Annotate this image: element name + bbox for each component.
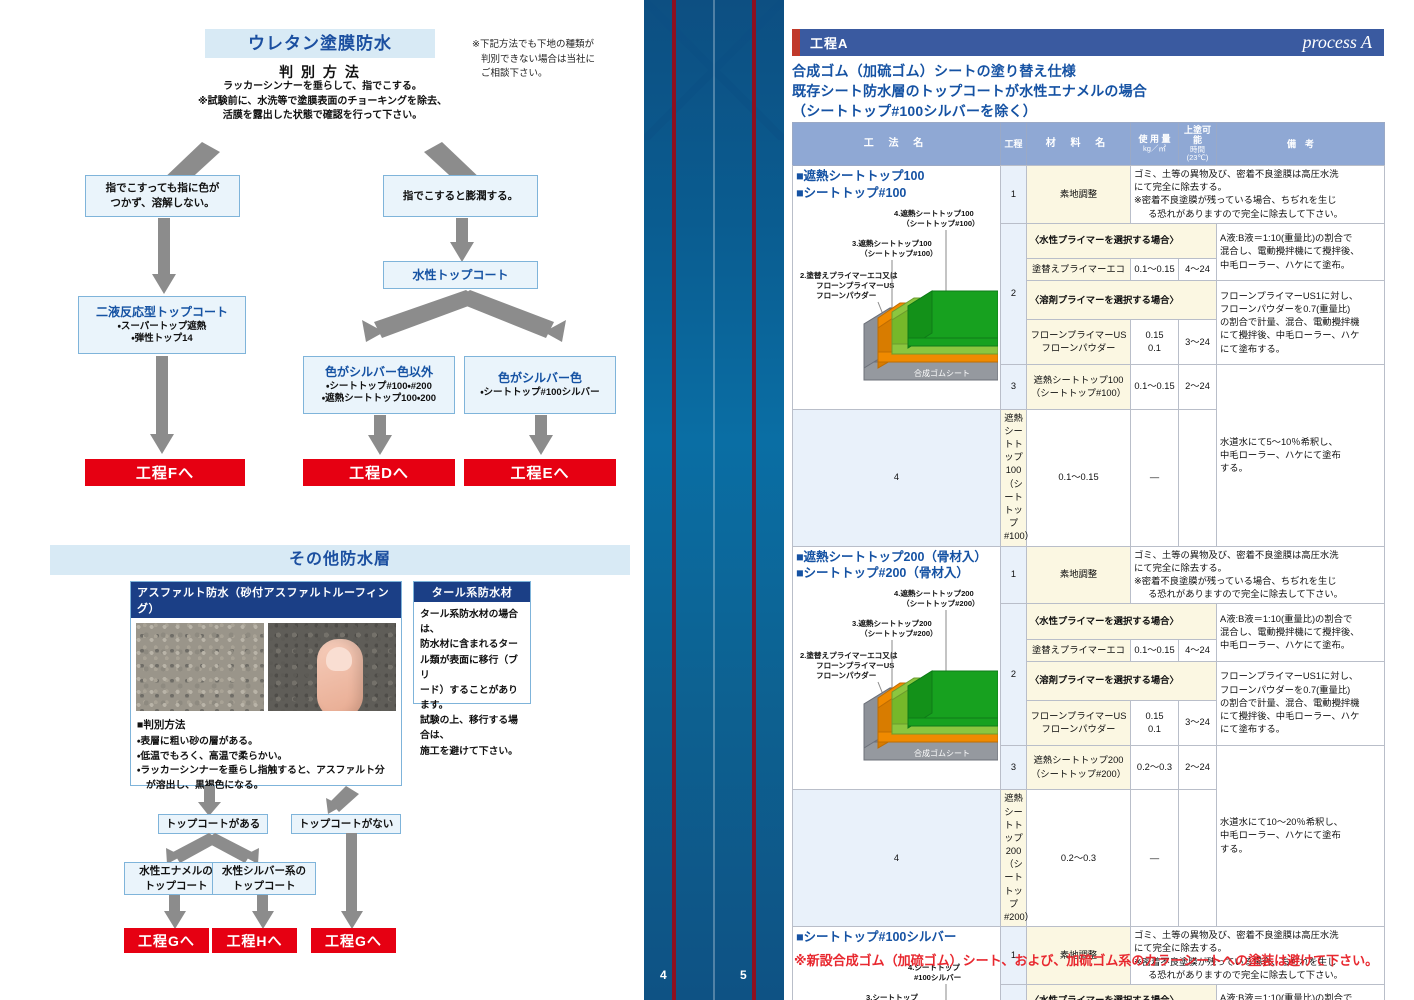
right-page: 工程A process A 合成ゴム（加硫ゴム）シートの塗り替え仕様 既存シート…	[784, 0, 1414, 1000]
diagram-title-2-line1: ■シートトップ#100シルバー	[796, 929, 997, 946]
step-0-3-material: 遮熱シートトップ100 （シートトップ#100）	[1027, 365, 1131, 409]
goto-process-h[interactable]: 工程Hへ	[212, 928, 297, 953]
step-0-4-time: —	[1131, 409, 1179, 546]
arrow-to-process-g2	[340, 833, 366, 931]
water-topcoat-box: 水性トップコート	[383, 261, 538, 289]
method-body-line3: 活膜を露出した状態で確認を行って下さい。	[150, 109, 495, 124]
step-1-1-material: 素地調整	[1027, 546, 1131, 604]
step-0-1-num: 1	[1001, 165, 1027, 223]
sp-remark-1-l3: の割合で計量、混合、電動攪拌機	[1220, 698, 1359, 708]
diagram-1-label2-l2: フローンプライマーUS	[816, 660, 894, 670]
method-body: ラッカーシンナーを垂らして、指でこする。 ※試験前に、水洗等で塗膜表面のチョーキ…	[150, 80, 495, 124]
step-1-4-time: —	[1131, 790, 1179, 927]
topcoat-remark-0: 水道水にて5～10％希釈し、 中毛ローラー、ハケにて塗布 する。	[1217, 365, 1385, 546]
solvent-primer-material-1: フローンプライマーUS フローンパウダー	[1027, 700, 1131, 745]
has-topcoat-box: トップコートがある	[158, 814, 268, 834]
sp-remark-0-l1: フローンプライマーUS1に対し、	[1220, 291, 1358, 301]
step-0-3-usage: 0.1～0.15	[1131, 365, 1179, 409]
branch-left-box: 指でこすっても指に色が つかず、溶解しない。	[85, 175, 240, 217]
silver-topcoat-line1: 水性シルバー系の	[222, 864, 306, 879]
water-primer-material-1: 塗替えプライマーエコ	[1027, 639, 1131, 661]
sp-remark-0-l2: フローンパウダーを0.7(重量比)	[1220, 304, 1350, 314]
step-1-3-time: 2～24	[1179, 745, 1217, 789]
wp-remark-2-l1: A液:B液＝1:10(重量比)の割合で	[1220, 993, 1352, 1000]
water-primer-remark-1: A液:B液＝1:10(重量比)の割合で 混合し、電動攪拌機にて攪拌後、 中毛ロー…	[1217, 604, 1385, 662]
s1-3-mat-l1: 遮熱シートトップ200	[1034, 755, 1124, 765]
diagram-2-label4-l2: #100シルバー	[914, 973, 961, 982]
sp-remark-1-l4: にて攪拌後、中毛ローラー、ハケ	[1220, 711, 1359, 721]
asphalt-photo-2	[268, 623, 396, 711]
solvent-primer-time-0: 3～24	[1179, 320, 1217, 365]
tc-remark-1-l1: 水道水にて10～20％希釈し、	[1220, 817, 1343, 827]
step-1-1-remark-l2: にて完全に除去する。	[1134, 563, 1227, 573]
diagram-title-0-line2: ■シートトップ#100	[796, 185, 997, 202]
water-topcoat-label: 水性トップコート	[412, 267, 508, 284]
diagram-title-1-line2: ■シートトップ#200（骨材入）	[796, 565, 997, 582]
water-primer-head-2: 〈水性プライマーを選択する場合〉	[1027, 984, 1217, 1000]
tc-remark-1-l2: 中毛ローラー、ハケにて塗布	[1220, 830, 1341, 840]
top-note: ※下記方法でも下地の種類が 判別できない場合は当社に ご相談下さい。	[472, 38, 632, 82]
non-silver-item-1: ・遮熱シートトップ100・200	[304, 393, 454, 406]
s1-4-mat-l1: 遮熱シートトップ200	[1004, 793, 1023, 856]
document-page: ウレタン塗膜防水 ※下記方法でも下地の種類が 判別できない場合は当社に ご相談下…	[0, 0, 1414, 1000]
sp-remark-0-l4: にて攪拌後、中毛ローラー、ハケ	[1220, 330, 1359, 340]
goto-process-d[interactable]: 工程Dへ	[303, 459, 455, 486]
book-spine: 4 5	[644, 0, 784, 1000]
step-0-4-material: 遮熱シートトップ100 （シートトップ#100）	[1001, 409, 1027, 546]
non-silver-box: 色がシルバー色以外 ・シートトップ#100・#200 ・遮熱シートトップ100・…	[303, 356, 455, 414]
branch-left-line1: 指でこすっても指に色が	[106, 181, 220, 196]
tar-body-0: タール系防水材の場合は、	[420, 607, 525, 637]
diagram-2-label3-l1: 3.シートトップ	[866, 992, 918, 1000]
enamel-topcoat-line2: トップコート	[145, 879, 208, 894]
diagram-title-1-line1: ■遮熱シートトップ200（骨材入）	[796, 549, 997, 566]
spine-red-line-right	[752, 0, 756, 1000]
step-1-3-num: 3	[1001, 745, 1027, 789]
step-0-1-remark-l3: ※密着不良塗膜が残っている場合、ちぢれを生じ	[1134, 195, 1337, 205]
solvent-primer-remark-0: フローンプライマーUS1に対し、 フローンパウダーを0.7(重量比) の割合で計…	[1217, 281, 1385, 365]
diagram-svg-1: 2.塗替えプライマーエコ又は フローンプライマーUS フローンパウダー 3.遮熱…	[796, 582, 998, 787]
silver-item-0: ・シートトップ#100シルバー	[465, 387, 615, 400]
asphalt-item-0: ・表層に粗い砂の層がある。	[137, 735, 395, 750]
solvent-primer-usage-0: 0.15 0.1	[1131, 320, 1179, 365]
arrow-to-process-e	[527, 415, 557, 457]
step-1-1-remark-l3: ※密着不良塗膜が残っている場合、ちぢれを生じ	[1134, 576, 1337, 586]
diagram-0-label4-l2: （シートトップ#100）	[902, 218, 980, 228]
step-0-1-remark-l4: る恐れがありますので完全に除去して下さい。	[1134, 208, 1343, 221]
step-2-1-remark-l4: る恐れがありますので完全に除去して下さい。	[1134, 969, 1343, 982]
diagram-0-label2-l3: フローンパウダー	[816, 290, 876, 300]
page-number-left: 4	[660, 968, 667, 982]
no-topcoat-label: トップコートがない	[299, 817, 394, 832]
arrow-topcoat-fork	[135, 833, 315, 865]
table-header-row: 工 法 名 工程 材 料 名 使 用 量 kg／㎡ 上塗可能 時間 (23℃) …	[793, 123, 1385, 166]
no-topcoat-box: トップコートがない	[291, 814, 401, 834]
sp-remark-0-l5: にて塗布する。	[1220, 344, 1285, 354]
footnote-warning: ※新設合成ゴム（加硫ゴム）シート、および、加硫ゴム系のカラーシートへの塗装は避け…	[794, 950, 1394, 969]
water-primer-usage-1: 0.1～0.15	[1131, 639, 1179, 661]
tar-body-3: ード）することがあります。	[420, 683, 525, 713]
diagram-cell-0: ■遮熱シートトップ100 ■シートトップ#100 2.塗替えプライマーエコ又は …	[793, 165, 1001, 409]
two-part-item-1: ・弾性トップ14	[79, 333, 245, 346]
diagram-cell-1: ■遮熱シートトップ200（骨材入） ■シートトップ#200（骨材入） 2.塗替え…	[793, 546, 1001, 790]
tc-remark-0-l1: 水道水にて5～10％希釈し、	[1220, 437, 1338, 447]
sp-use-1-l1: 0.15	[1145, 711, 1163, 721]
wp-remark-1-l1: A液:B液＝1:10(重量比)の割合で	[1220, 614, 1352, 624]
step-1-1-remark-l1: ゴミ、土等の異物及び、密着不良塗膜は高圧水洗	[1134, 550, 1339, 560]
branch-left-line2: つかず、溶解しない。	[110, 196, 214, 211]
method-title: 判 別 方 法	[205, 62, 435, 82]
sp-mat-0-l2: フローンパウダー	[1042, 343, 1116, 353]
layer-diagram-0: ■遮熱シートトップ100 ■シートトップ#100 2.塗替えプライマーエコ又は …	[796, 168, 997, 407]
col-usage-sub: kg／㎡	[1132, 145, 1177, 154]
asphalt-panel: アスファルト防水（砂付アスファルトルーフィング） ■判別方法 ・表層に粗い砂の層…	[130, 581, 402, 786]
col-recoat: 上塗可能 時間 (23℃)	[1179, 123, 1217, 166]
water-primer-head-0: 〈水性プライマーを選択する場合〉	[1027, 223, 1217, 258]
wp-remark-1-l2: 混合し、電動攪拌機にて攪拌後、	[1220, 627, 1359, 637]
silver-title: 色がシルバー色	[498, 370, 582, 387]
spec-title-line3: （シートトップ#100シルバーを除く）	[792, 102, 1392, 122]
goto-process-g-2[interactable]: 工程Gへ	[311, 928, 396, 953]
water-primer-time-0: 4～24	[1179, 259, 1217, 281]
s0-3-mat-l1: 遮熱シートトップ100	[1034, 375, 1124, 385]
sp-remark-1-l1: フローンプライマーUS1に対し、	[1220, 671, 1358, 681]
asphalt-panel-title: アスファルト防水（砂付アスファルトルーフィング）	[131, 582, 401, 618]
spine-center-seam	[713, 0, 715, 1000]
arrow-to-process-g1	[163, 895, 189, 931]
col-method: 工 法 名	[793, 123, 1001, 166]
finger-illustration	[317, 639, 363, 711]
step-1-2-num: 2	[1001, 604, 1027, 746]
sp-remark-1-l5: にて塗布する。	[1220, 724, 1285, 734]
step-0-2-num: 2	[1001, 223, 1027, 365]
step-1-4-material: 遮熱シートトップ200 （シートトップ#200）	[1001, 790, 1027, 927]
solvent-primer-remark-1: フローンプライマーUS1に対し、 フローンパウダーを0.7(重量比) の割合で計…	[1217, 661, 1385, 745]
step-1-4-num: 4	[793, 790, 1001, 927]
step-0-4-num: 4	[793, 409, 1001, 546]
diagram-0-label3-l2: （シートトップ#100）	[860, 248, 938, 258]
diagram-0-label3-l1: 3.遮熱シートトップ100	[852, 238, 932, 248]
sp-remark-0-l3: の割合で計量、混合、電動攪拌機	[1220, 317, 1359, 327]
col-usage: 使 用 量 kg／㎡	[1131, 123, 1179, 166]
step-1-1-remark-l4: る恐れがありますので完全に除去して下さい。	[1134, 588, 1343, 601]
step-1-3-material: 遮熱シートトップ200 （シートトップ#200）	[1027, 745, 1131, 789]
sp-mat-1-l1: フローンプライマーUS	[1031, 711, 1127, 721]
two-part-topcoat-box: 二液反応型トップコート ・スーパートップ遮熱 ・弾性トップ14	[78, 296, 246, 354]
tar-panel-title: タール系防水材	[414, 582, 530, 602]
diagram-1-label2-l1: 2.塗替えプライマーエコ又は	[800, 650, 898, 660]
silver-topcoat-box: 水性シルバー系の トップコート	[212, 862, 316, 895]
tar-body-2: ル類が表面に移行（ブリ	[420, 653, 525, 683]
top-note-line3: ご相談下さい。	[472, 67, 632, 82]
step-2-1-remark-l1: ゴミ、土等の異物及び、密着不良塗膜は高圧水洗	[1134, 930, 1339, 940]
enamel-topcoat-line1: 水性エナメルの	[139, 864, 213, 879]
silver-topcoat-line2: トップコート	[233, 879, 296, 894]
silver-box: 色がシルバー色 ・シートトップ#100シルバー	[464, 356, 616, 414]
solvent-primer-material-0: フローンプライマーUS フローンパウダー	[1027, 320, 1131, 365]
method-body-line2: ※試験前に、水洗等で塗膜表面のチョーキングを除去、	[150, 95, 495, 110]
tc-remark-1-l3: する。	[1220, 844, 1248, 854]
solvent-primer-usage-1: 0.15 0.1	[1131, 700, 1179, 745]
other-waterproof-banner: その他防水層	[50, 545, 630, 575]
col-recoat-main: 上塗可能	[1184, 125, 1211, 145]
arrow-to-process-f	[148, 356, 178, 456]
process-label: 工程A	[800, 33, 848, 52]
step-2-2-num: 2	[1001, 984, 1027, 1000]
asphalt-photo-1	[136, 623, 264, 711]
spec-title-line1: 合成ゴム（加硫ゴム）シートの塗り替え仕様	[792, 62, 1392, 82]
top-note-line1: ※下記方法でも下地の種類が	[472, 38, 632, 53]
diagram-1-base-label: 合成ゴムシート	[914, 748, 970, 758]
tar-body-4: 試験の上、移行する場合は、	[420, 713, 525, 743]
has-topcoat-label: トップコートがある	[166, 817, 261, 832]
section-sheettop200: ■遮熱シートトップ200（骨材入） ■シートトップ#200（骨材入） 2.塗替え…	[793, 546, 1385, 927]
diagram-title-0-line1: ■遮熱シートトップ100	[796, 168, 997, 185]
tar-body-1: 防水材に含まれるター	[420, 637, 525, 652]
process-accent-bar	[792, 29, 800, 56]
sp-use-1-l2: 0.1	[1148, 724, 1161, 734]
wp-remark-0-l3: 中毛ローラー、ハケにて塗布。	[1220, 260, 1350, 270]
asphalt-method-head: ■判別方法	[137, 717, 395, 732]
step-1-4-usage: 0.2～0.3	[1027, 790, 1131, 927]
col-step: 工程	[1001, 123, 1027, 166]
branch-right-box: 指でこすると膨潤する。	[383, 175, 538, 217]
spine-red-line-left	[672, 0, 676, 1000]
diagram-0-base-label: 合成ゴムシート	[914, 368, 970, 378]
process-label-en: process A	[1303, 32, 1385, 53]
diagram-1-label4-l2: （シートトップ#200）	[902, 598, 980, 608]
wp-remark-0-l2: 混合し、電動攪拌機にて攪拌後、	[1220, 246, 1359, 256]
diagram-1-label3-l1: 3.遮熱シートトップ200	[852, 618, 932, 628]
tar-body-5: 施工を避けて下さい。	[420, 744, 525, 759]
diagram-svg-0: 2.塗替えプライマーエコ又は フローンプライマーUS フローンパウダー 3.遮熱…	[796, 202, 998, 407]
arrow-to-process-d	[366, 415, 396, 457]
urethane-banner: ウレタン塗膜防水	[205, 29, 435, 58]
col-recoat-sub: 時間 (23℃)	[1180, 146, 1215, 163]
sp-remark-1-l2: フローンパウダーを0.7(重量比)	[1220, 685, 1350, 695]
asphalt-item-2: ・ラッカーシンナーを垂らし指触すると、アスファルト分	[137, 764, 395, 779]
spec-title: 合成ゴム（加硫ゴム）シートの塗り替え仕様 既存シート防水層のトップコートが水性エ…	[792, 62, 1392, 122]
spec-table: 工 法 名 工程 材 料 名 使 用 量 kg／㎡ 上塗可能 時間 (23℃) …	[792, 122, 1385, 1000]
step-1-1-num: 1	[1001, 546, 1027, 604]
spec-title-line2: 既存シート防水層のトップコートが水性エナメルの場合	[792, 82, 1392, 102]
solvent-primer-head-0: 〈溶剤プライマーを選択する場合〉	[1027, 281, 1217, 320]
goto-process-g-1[interactable]: 工程Gへ	[124, 928, 209, 953]
two-part-title: 二液反応型トップコート	[96, 304, 228, 321]
step-0-3-num: 3	[1001, 365, 1027, 409]
solvent-primer-head-1: 〈溶剤プライマーを選択する場合〉	[1027, 661, 1217, 700]
col-usage-main: 使 用 量	[1138, 134, 1170, 144]
s0-3-mat-l2: （シートトップ#100）	[1031, 388, 1126, 398]
step-0-1-remark-l1: ゴミ、土等の異物及び、密着不良塗膜は高圧水洗	[1134, 169, 1339, 179]
water-primer-head-1: 〈水性プライマーを選択する場合〉	[1027, 604, 1217, 639]
water-primer-usage-0: 0.1～0.15	[1131, 259, 1179, 281]
page-number-right: 5	[740, 968, 747, 982]
topcoat-remark-1: 水道水にて10～20％希釈し、 中毛ローラー、ハケにて塗布 する。	[1217, 745, 1385, 926]
water-topcoat-fork-arrows	[340, 288, 590, 346]
diagram-1-label4-l1: 4.遮熱シートトップ200	[894, 588, 974, 598]
col-material: 材 料 名	[1027, 123, 1131, 166]
sp-use-0-l1: 0.15	[1145, 330, 1163, 340]
tc-remark-0-l2: 中毛ローラー、ハケにて塗布	[1220, 450, 1341, 460]
arrow-down-left	[150, 218, 180, 296]
sp-use-0-l2: 0.1	[1148, 343, 1161, 353]
sp-mat-0-l1: フローンプライマーUS	[1031, 330, 1127, 340]
arrow-to-process-h	[251, 895, 277, 931]
wp-remark-0-l1: A液:B液＝1:10(重量比)の割合で	[1220, 233, 1352, 243]
left-page: ウレタン塗膜防水 ※下記方法でも下地の種類が 判別できない場合は当社に ご相談下…	[0, 0, 644, 1000]
tc-remark-0-l3: する。	[1220, 463, 1248, 473]
layer-diagram-1: ■遮熱シートトップ200（骨材入） ■シートトップ#200（骨材入） 2.塗替え…	[796, 549, 997, 788]
step-0-4-usage: 0.1～0.15	[1027, 409, 1131, 546]
step-0-1-remark-l2: にて完全に除去する。	[1134, 182, 1227, 192]
diagram-1-label2-l3: フローンパウダー	[816, 670, 876, 680]
goto-process-e[interactable]: 工程Eへ	[464, 459, 616, 486]
sp-mat-1-l2: フローンパウダー	[1042, 724, 1116, 734]
top-note-line2: 判別できない場合は当社に	[472, 53, 632, 68]
solvent-primer-time-1: 3～24	[1179, 700, 1217, 745]
section-sheettop100: ■遮熱シートトップ100 ■シートトップ#100 2.塗替えプライマーエコ又は …	[793, 165, 1385, 546]
goto-process-f[interactable]: 工程Fへ	[85, 459, 245, 486]
arrow-down-right	[448, 218, 478, 264]
col-remarks: 備 考	[1217, 123, 1385, 166]
branch-right-line1: 指でこすると膨潤する。	[403, 189, 518, 204]
water-primer-material-0: 塗替えプライマーエコ	[1027, 259, 1131, 281]
step-0-3-time: 2～24	[1179, 365, 1217, 409]
water-primer-remark-2: A液:B液＝1:10(重量比)の割合で 混合し、電動攪拌機にて攪拌後、 中毛ロー…	[1217, 984, 1385, 1000]
step-1-3-usage: 0.2～0.3	[1131, 745, 1179, 789]
water-primer-time-1: 4～24	[1179, 639, 1217, 661]
diagram-0-label2-l1: 2.塗替えプライマーエコ又は	[800, 270, 898, 280]
tar-panel: タール系防水材 タール系防水材の場合は、 防水材に含まれるター ル類が表面に移行…	[413, 581, 531, 704]
two-part-item-0: ・スーパートップ遮熱	[79, 321, 245, 334]
non-silver-title: 色がシルバー色以外	[325, 364, 433, 381]
diagram-1-label3-l2: （シートトップ#200）	[860, 628, 938, 638]
s0-4-mat-l1: 遮熱シートトップ100	[1004, 413, 1023, 476]
water-primer-remark-0: A液:B液＝1:10(重量比)の割合で 混合し、電動攪拌機にて攪拌後、 中毛ロー…	[1217, 223, 1385, 281]
step-0-1-remark: ゴミ、土等の異物及び、密着不良塗膜は高圧水洗 にて完全に除去する。 ※密着不良塗…	[1131, 165, 1385, 223]
step-1-1-remark: ゴミ、土等の異物及び、密着不良塗膜は高圧水洗 にて完全に除去する。 ※密着不良塗…	[1131, 546, 1385, 604]
method-body-line1: ラッカーシンナーを垂らして、指でこする。	[150, 80, 495, 95]
non-silver-item-0: ・シートトップ#100・#200	[304, 381, 454, 394]
diagram-0-label4-l1: 4.遮熱シートトップ100	[894, 208, 974, 218]
wp-remark-1-l3: 中毛ローラー、ハケにて塗布。	[1220, 640, 1350, 650]
s1-3-mat-l2: （シートトップ#200）	[1031, 769, 1126, 779]
process-header: 工程A process A	[792, 29, 1384, 56]
asphalt-item-1: ・低温でもろく、高温で柔らかい。	[137, 750, 395, 765]
diagram-0-label2-l2: フローンプライマーUS	[816, 280, 894, 290]
step-0-1-material: 素地調整	[1027, 165, 1131, 223]
